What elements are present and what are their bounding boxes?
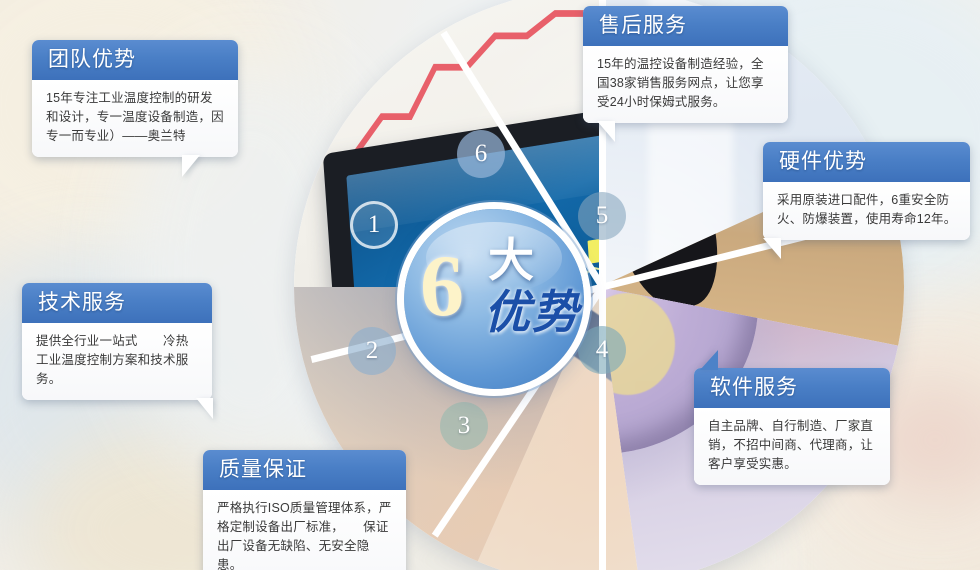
card-quality-title: 质量保证 — [203, 450, 406, 490]
card-team-pointer — [182, 155, 200, 177]
card-team-title: 团队优势 — [32, 40, 238, 80]
card-aftersales[interactable]: 售后服务 15年的温控设备制造经验，全国38家销售服务网点，让您享受24小时保姆… — [583, 6, 788, 123]
card-team[interactable]: 团队优势 15年专注工业温度控制的研发和设计，专一温度设备制造，因专一而专业）—… — [32, 40, 238, 157]
card-tech-title: 技术服务 — [22, 283, 212, 323]
segment-number-4[interactable]: 4 — [578, 326, 626, 374]
infographic-canvas: 1 2 3 4 5 6 6 大 优势 团队优势 15年专注工业温度控制的研发和设… — [0, 0, 980, 570]
card-hardware[interactable]: 硬件优势 采用原装进口配件，6重安全防火、防爆装置，使用寿命12年。 — [763, 142, 970, 240]
card-tech-pointer — [196, 398, 213, 419]
center-hub[interactable]: 6 大 优势 — [404, 209, 584, 389]
card-team-body: 15年专注工业温度控制的研发和设计，专一温度设备制造，因专一而专业）——奥兰特 — [32, 80, 238, 157]
card-software-body: 自主品牌、自行制造、厂家直销，不招中间商、代理商，让客户享受实惠。 — [694, 408, 890, 485]
card-aftersales-pointer — [597, 121, 615, 142]
segment-number-5[interactable]: 5 — [578, 192, 626, 240]
hub-big-char: 大 — [488, 237, 534, 283]
card-software-pointer — [700, 350, 718, 370]
segment-number-1[interactable]: 1 — [350, 201, 398, 249]
segment-number-6[interactable]: 6 — [457, 130, 505, 178]
card-quality[interactable]: 质量保证 严格执行ISO质量管理体系，严格定制设备出厂标准， 保证出厂设备无缺陷… — [203, 450, 406, 570]
card-hardware-pointer — [763, 238, 781, 259]
hub-number: 6 — [420, 243, 464, 331]
card-tech-body: 提供全行业一站式 冷热工业温度控制方案和技术服务。 — [22, 323, 212, 400]
card-software[interactable]: 软件服务 自主品牌、自行制造、厂家直销，不招中间商、代理商，让客户享受实惠。 — [694, 368, 890, 485]
segment-number-2[interactable]: 2 — [348, 327, 396, 375]
card-quality-body: 严格执行ISO质量管理体系，严格定制设备出厂标准， 保证出厂设备无缺陷、无安全隐… — [203, 490, 406, 570]
card-tech[interactable]: 技术服务 提供全行业一站式 冷热工业温度控制方案和技术服务。 — [22, 283, 212, 400]
segment-number-3[interactable]: 3 — [440, 402, 488, 450]
card-hardware-title: 硬件优势 — [763, 142, 970, 182]
card-hardware-body: 采用原装进口配件，6重安全防火、防爆装置，使用寿命12年。 — [763, 182, 970, 240]
hub-word: 优势 — [484, 287, 580, 337]
card-aftersales-body: 15年的温控设备制造经验，全国38家销售服务网点，让您享受24小时保姆式服务。 — [583, 46, 788, 123]
card-software-title: 软件服务 — [694, 368, 890, 408]
card-aftersales-title: 售后服务 — [583, 6, 788, 46]
